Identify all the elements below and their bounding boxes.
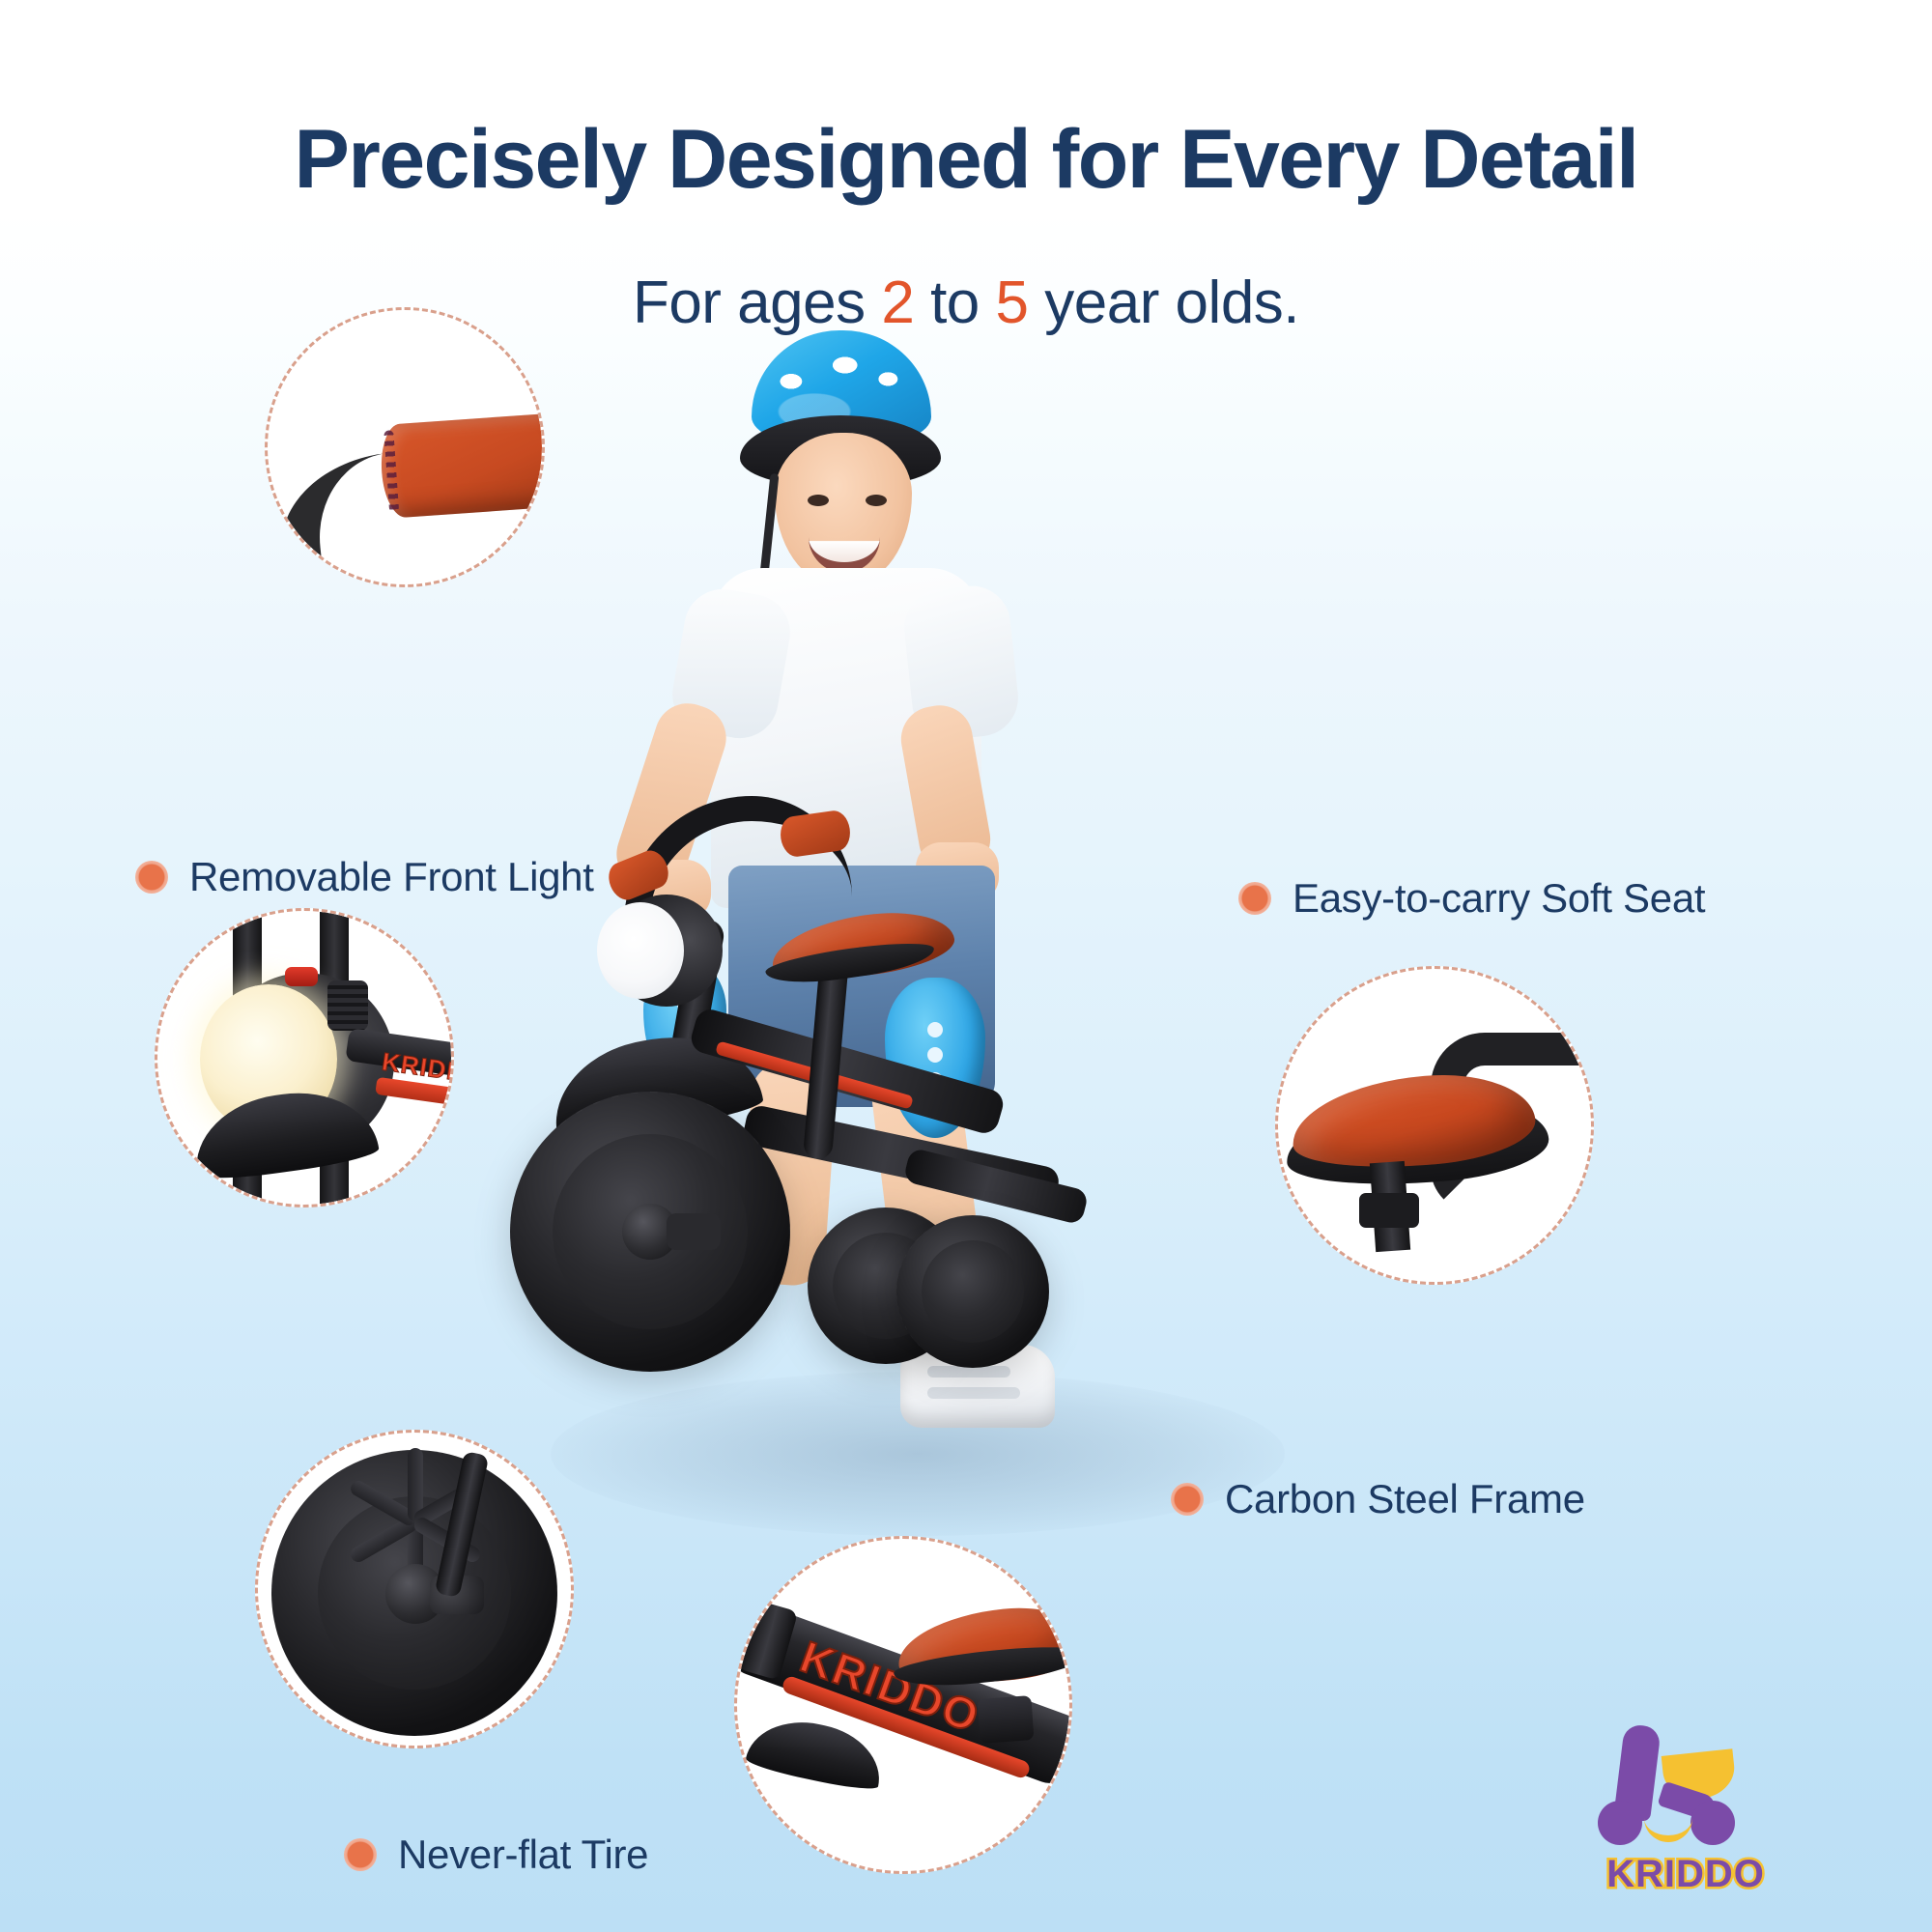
callout-carbon-steel-frame: KRIDDO — [734, 1536, 1072, 1874]
callout-carbon-steel-frame-image: KRIDDO — [737, 1539, 1069, 1871]
feature-label-text: Never-flat Tire — [398, 1832, 648, 1878]
eye-right — [866, 495, 887, 506]
logo-smile-icon — [1644, 1812, 1692, 1842]
light-mount-bracket — [327, 980, 368, 1031]
hero-product-photo — [522, 319, 1410, 1565]
callout-handlebar-grip — [265, 307, 545, 587]
logo-wheel-left-icon — [1598, 1801, 1642, 1845]
callout-front-light-image: KRIDDO — [157, 911, 451, 1205]
callout-never-flat-tire-image — [258, 1433, 571, 1746]
feature-easy-to-carry-soft-seat: Easy-to-carry Soft Seat — [1238, 875, 1705, 922]
eye-left — [808, 495, 829, 506]
callout-soft-seat-image — [1278, 969, 1591, 1282]
shoe-strap-lower — [927, 1387, 1020, 1399]
bullet-dot-icon — [1238, 882, 1271, 915]
seat-clamp — [1359, 1193, 1419, 1228]
infographic-page: Precisely Designed for Every Detail For … — [0, 0, 1932, 1932]
page-title: Precisely Designed for Every Detail — [0, 116, 1932, 203]
bullet-dot-icon — [344, 1838, 377, 1871]
light-power-button — [285, 967, 318, 986]
feature-label-text: Removable Front Light — [189, 854, 594, 900]
feature-label-text: Easy-to-carry Soft Seat — [1293, 875, 1705, 922]
feature-label-text: Carbon Steel Frame — [1225, 1476, 1585, 1522]
rear-wheel-outer-rim — [922, 1240, 1024, 1343]
feature-removable-front-light: Removable Front Light — [135, 854, 594, 900]
frame-callout-fender — [745, 1711, 889, 1794]
brand-logo: KRIDDO — [1584, 1719, 1787, 1903]
feature-never-flat-tire: Never-flat Tire — [344, 1832, 648, 1878]
logo-wheel-right-icon — [1690, 1801, 1735, 1845]
front-wheel-axle — [667, 1213, 721, 1250]
front-light-lens — [597, 902, 684, 999]
bullet-dot-icon — [135, 861, 168, 894]
callout-never-flat-tire — [255, 1430, 574, 1748]
callout-handlebar-grip-image — [268, 310, 542, 584]
helmet-strap — [759, 473, 779, 576]
callout-soft-seat — [1275, 966, 1594, 1285]
logo-wordmark: KRIDDO — [1594, 1853, 1777, 1896]
feature-carbon-steel-frame: Carbon Steel Frame — [1171, 1476, 1585, 1522]
callout-front-light: KRIDDO — [155, 908, 454, 1207]
frame-seat-clamp — [977, 1695, 1034, 1744]
grip-foam-pad — [379, 412, 542, 519]
bullet-dot-icon — [1171, 1483, 1204, 1516]
